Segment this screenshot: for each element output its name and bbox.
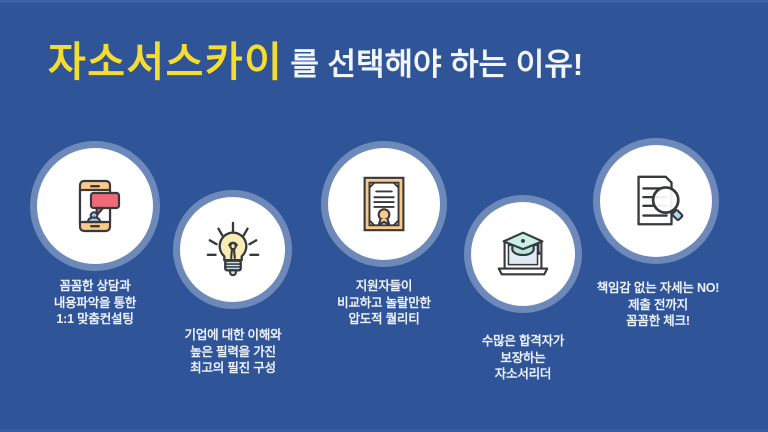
feature-1-bubble — [37, 148, 153, 264]
feature-4-caption: 수많은 합격자가 보장하는 자소서리더 — [447, 333, 599, 383]
feature-4-caption-line-1: 수많은 합격자가 — [447, 333, 599, 350]
feature-5-caption-line-2: 제출 전까지 — [574, 297, 742, 314]
laptop-graduation-cap-icon — [492, 223, 554, 285]
promo-poster: 자소서스카이 를 선택해야 하는 이유! 꼼꼼한 상담과 — [0, 0, 768, 432]
certificate-icon — [353, 173, 415, 235]
feature-3-caption: 지원자들이 비교하고 놀랄만한 압도적 퀄리티 — [308, 278, 460, 328]
top-edge-strip — [0, 0, 768, 3]
smartphone-chat-icon — [63, 174, 127, 238]
feature-1-caption-line-2: 내용파악을 통한 — [25, 295, 165, 312]
feature-2-caption-line-3: 최고의 필진 구성 — [157, 360, 309, 377]
feature-4-bubble — [471, 202, 575, 306]
feature-5-caption-line-1: 책임감 없는 자세는 NO! — [574, 280, 742, 297]
feature-2-caption-line-1: 기업에 대한 이해와 — [157, 327, 309, 344]
feature-2-caption: 기업에 대한 이해와 높은 필력을 가진 최고의 필진 구성 — [157, 327, 309, 377]
page-title: 자소서스카이 를 선택해야 하는 이유! — [48, 42, 748, 100]
brand-name: 자소서스카이 — [48, 42, 283, 83]
feature-5-caption: 책임감 없는 자세는 NO! 제출 전까지 꼼꼼한 체크! — [574, 280, 742, 330]
document-magnifier-icon — [625, 170, 687, 232]
feature-2-bubble — [180, 197, 285, 302]
feature-1-caption-line-1: 꼼꼼한 상담과 — [25, 278, 165, 295]
headline-suffix: 를 선택해야 하는 이유! — [290, 49, 583, 80]
feature-1-caption: 꼼꼼한 상담과 내용파악을 통한 1:1 맞춤컨설팅 — [25, 278, 165, 328]
feature-3-caption-line-3: 압도적 퀄리티 — [308, 311, 460, 328]
feature-4-caption-line-2: 보장하는 — [447, 350, 599, 367]
feature-3-bubble — [328, 148, 440, 260]
feature-3-caption-line-1: 지원자들이 — [308, 278, 460, 295]
lightbulb-icon — [202, 219, 264, 281]
feature-5-bubble — [600, 145, 712, 257]
feature-5-caption-line-3: 꼼꼼한 체크! — [574, 313, 742, 330]
feature-3-caption-line-2: 비교하고 놀랄만한 — [308, 295, 460, 312]
feature-2-caption-line-2: 높은 필력을 가진 — [157, 344, 309, 361]
feature-4-caption-line-3: 자소서리더 — [447, 366, 599, 383]
feature-1-caption-line-3: 1:1 맞춤컨설팅 — [25, 311, 165, 328]
